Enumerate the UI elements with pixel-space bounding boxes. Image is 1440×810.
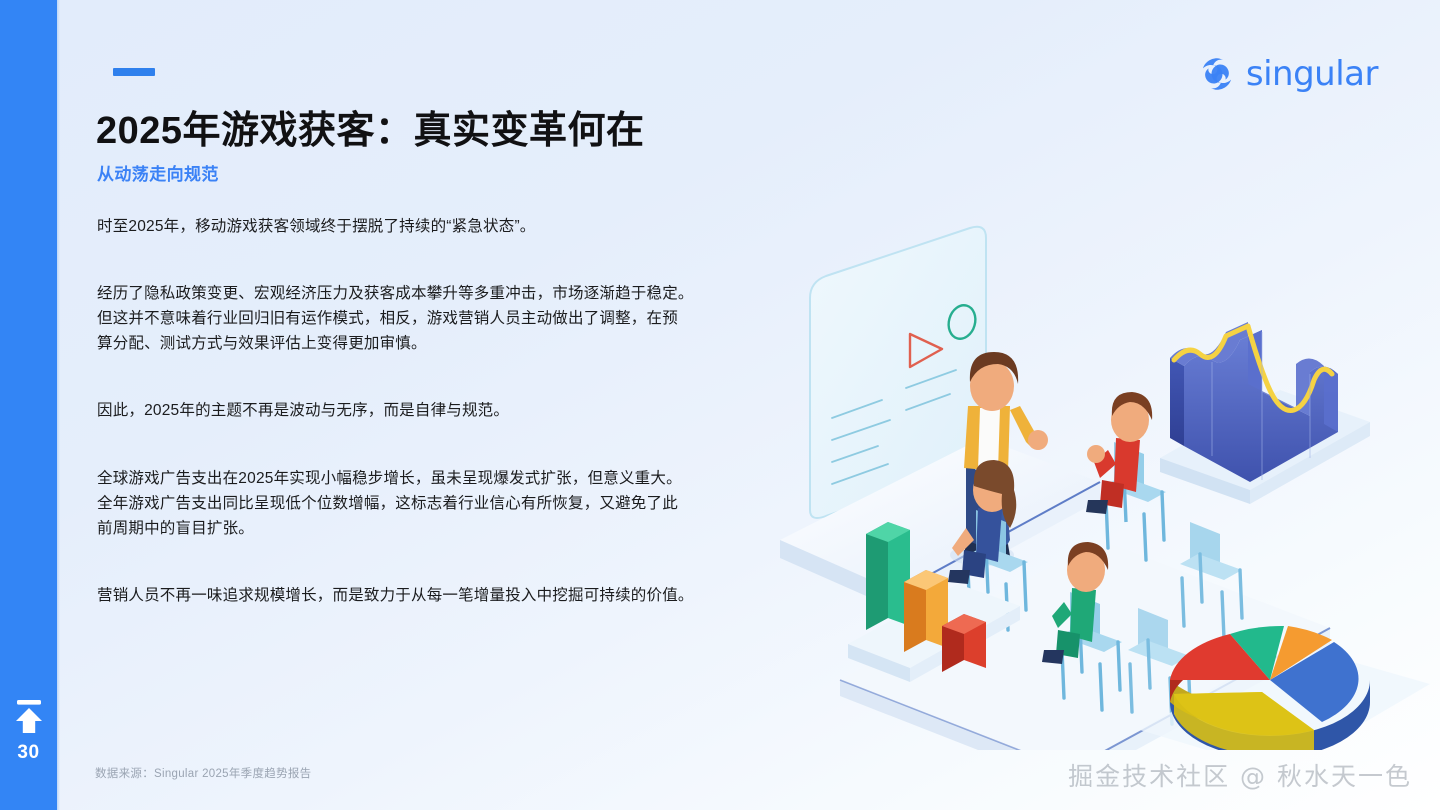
paragraph: 全球游戏广告支出在2025年实现小幅稳步增长，虽未呈现爆发式扩张，但意义重大。 … — [97, 466, 787, 541]
paragraph: 时至2025年，移动游戏获客领域终于摆脱了持续的“紧急状态”。 — [97, 214, 787, 239]
upload-to-top-icon[interactable] — [13, 700, 45, 734]
singular-swirl-icon — [1199, 56, 1235, 92]
page-title: 2025年游戏获客：真实变革何在 — [96, 99, 645, 154]
isometric-conference-illustration — [770, 210, 1440, 750]
presenter-hand — [1028, 430, 1048, 450]
audience-hand — [1087, 445, 1105, 463]
area-chart-prop — [1160, 322, 1370, 504]
audience-figure-red — [1086, 392, 1166, 560]
source-note: 数据来源：Singular 2025年季度趋势报告 — [95, 765, 311, 781]
watermark: 掘金技术社区 @ 秋水天一色 — [1068, 757, 1412, 793]
singular-logo: singular — [1199, 54, 1378, 94]
rail-edge-shadow — [57, 0, 60, 810]
logo-wordmark: singular — [1246, 54, 1378, 94]
left-rail — [0, 0, 57, 810]
page-number: 30 — [0, 742, 57, 764]
paragraph: 营销人员不再一味追求规模增长，而是致力于从每一笔增量投入中挖掘可持续的价值。 — [97, 583, 787, 608]
paragraph: 因此，2025年的主题不再是波动与无序，而是自律与规范。 — [97, 398, 787, 423]
body-copy: 时至2025年，移动游戏获客领域终于摆脱了持续的“紧急状态”。 经历了隐私政策变… — [97, 214, 787, 608]
page-subtitle: 从动荡走向规范 — [97, 160, 219, 185]
slide-canvas: 30 2025年游戏获客：真实变革何在 从动荡走向规范 singular 时至2… — [0, 0, 1440, 810]
title-accent-bar — [113, 68, 155, 76]
paragraph: 经历了隐私政策变更、宏观经济压力及获客成本攀升等多重冲击，市场逐渐趋于稳定。 但… — [97, 281, 787, 356]
